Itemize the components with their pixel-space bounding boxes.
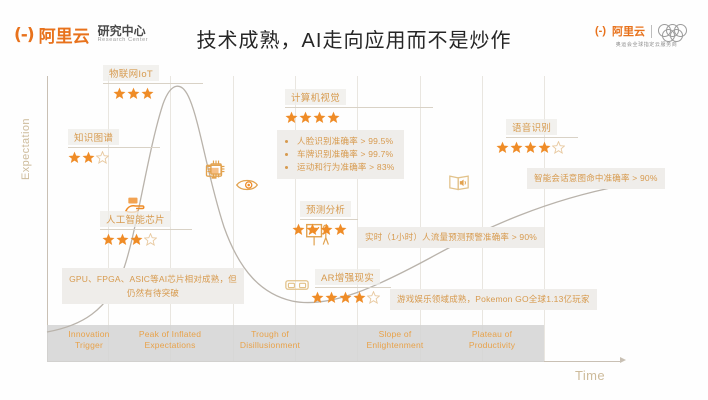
note-ar: 游戏娱乐领域成熟，Pokemon GO全球1.13亿玩家 <box>390 289 597 310</box>
star-filled-icon <box>311 291 324 304</box>
category-computer-vision-label: 计算机视觉 <box>285 89 346 105</box>
category-knowledge-graph-rating <box>68 151 160 164</box>
star-filled-icon <box>285 111 298 124</box>
star-filled-icon <box>353 291 366 304</box>
ar-glasses-icon <box>285 278 309 292</box>
eye-icon <box>235 176 259 194</box>
star-filled-icon <box>327 111 340 124</box>
star-filled-icon <box>113 87 126 100</box>
cv-bullet-3: 运动和行为准确率 > 83% <box>297 161 395 174</box>
category-knowledge-graph-label: 知识图谱 <box>68 129 119 145</box>
star-filled-icon <box>325 291 338 304</box>
star-filled-icon <box>524 141 537 154</box>
star-filled-icon <box>313 111 326 124</box>
star-filled-icon <box>127 87 140 100</box>
star-filled-icon <box>496 141 509 154</box>
category-ar-rating <box>311 291 391 304</box>
category-ai-chip-rating <box>102 233 192 246</box>
category-ar-label: AR增强现实 <box>315 269 380 285</box>
category-predictive-analytics-rating <box>292 223 358 236</box>
star-filled-icon <box>334 223 347 236</box>
category-predictive-analytics: 预测分析 <box>300 200 358 236</box>
star-empty-icon <box>552 141 565 154</box>
category-ai-chip: 人工智能芯片 <box>100 210 192 246</box>
cv-bullet-1: 人脸识别准确率 > 99.5% <box>297 135 395 148</box>
slide-canvas: (-) 阿里云 研究中心 Research Center 技术成熟，AI走向应用… <box>0 0 708 400</box>
star-filled-icon <box>299 111 312 124</box>
chip-icon <box>205 158 227 180</box>
star-filled-icon <box>292 223 305 236</box>
star-filled-icon <box>339 291 352 304</box>
star-empty-icon <box>96 151 109 164</box>
category-knowledge-graph: 知识图谱 <box>68 128 160 164</box>
note-ai-chip: GPU、FPGA、ASIC等AI芯片相对成熟，但仍然有待突破 <box>62 268 244 304</box>
star-filled-icon <box>68 151 81 164</box>
category-iot-rating <box>113 87 203 100</box>
star-filled-icon <box>320 223 333 236</box>
star-filled-icon <box>82 151 95 164</box>
star-filled-icon <box>102 233 115 246</box>
star-filled-icon <box>130 233 143 246</box>
star-filled-icon <box>141 87 154 100</box>
category-speech-recognition-rating <box>496 141 578 154</box>
category-speech-recognition: 语音识别 <box>506 118 578 154</box>
category-ar: AR增强现实 <box>315 268 391 304</box>
category-speech-recognition-label: 语音识别 <box>506 119 557 135</box>
star-empty-icon <box>367 291 380 304</box>
star-filled-icon <box>538 141 551 154</box>
category-predictive-analytics-label: 预测分析 <box>300 201 351 217</box>
star-filled-icon <box>116 233 129 246</box>
note-speech-recognition: 智能会话意图命中准确率 > 90% <box>527 168 665 189</box>
category-iot: 物联网IoT <box>103 64 203 100</box>
note-computer-vision: 人脸识别准确率 > 99.5% 车牌识别准确率 > 99.7% 运动和行为准确率… <box>277 130 404 179</box>
cv-bullet-2: 车牌识别准确率 > 99.7% <box>297 148 395 161</box>
star-empty-icon <box>144 233 157 246</box>
star-filled-icon <box>510 141 523 154</box>
category-ai-chip-label: 人工智能芯片 <box>100 211 171 227</box>
category-iot-label: 物联网IoT <box>103 65 159 81</box>
note-predictive-analytics: 实时（1小时）人流量预测预警准确率 > 90% <box>358 227 544 248</box>
category-computer-vision: 计算机视觉 <box>285 88 433 124</box>
star-filled-icon <box>306 223 319 236</box>
book-audio-icon <box>448 172 470 192</box>
category-computer-vision-rating <box>285 111 433 124</box>
